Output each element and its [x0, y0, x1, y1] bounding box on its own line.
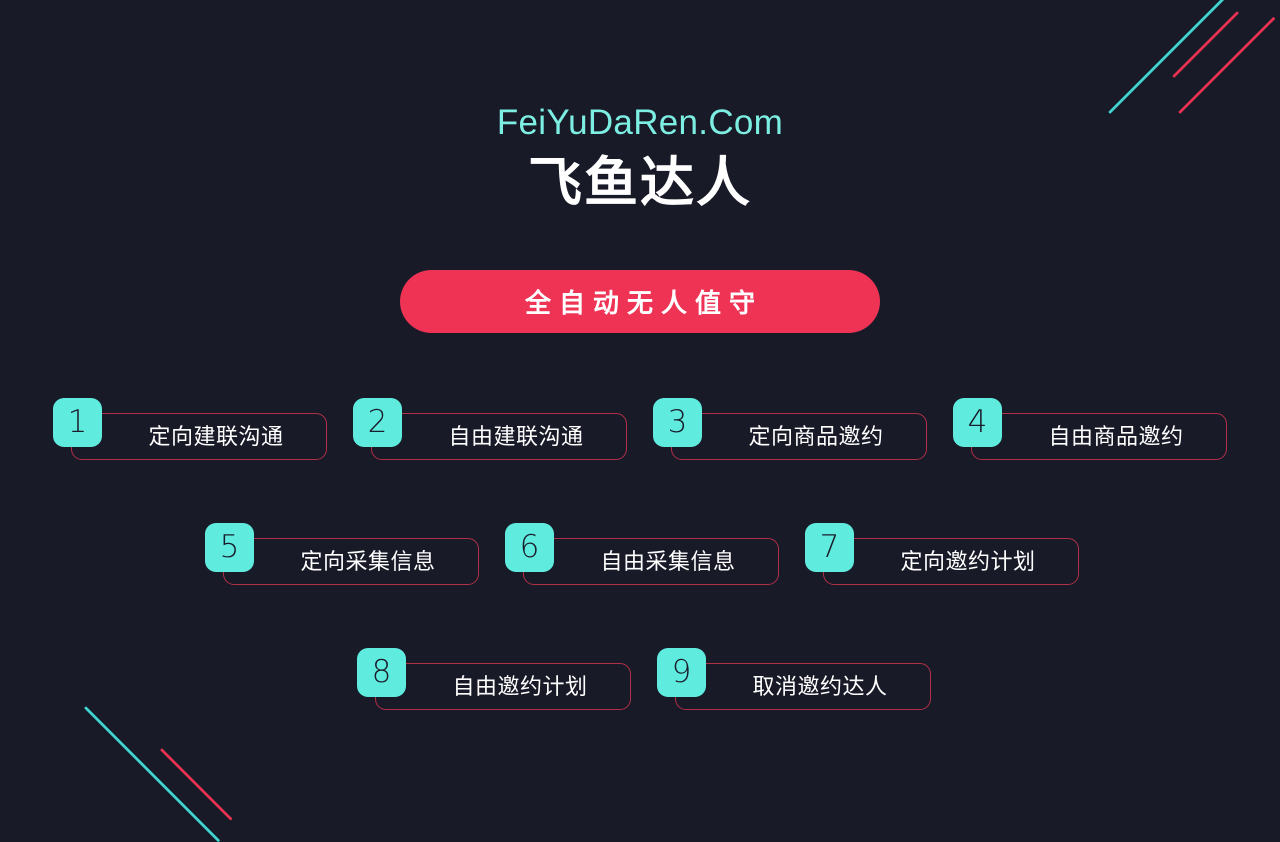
feature-outline-3: 定向商品邀约 — [671, 413, 927, 460]
feature-badge-4: 4 — [953, 398, 1002, 447]
deco-diagonal-bottom-left-cyan-long — [84, 706, 220, 842]
feature-label-2: 自由建联沟通 — [448, 426, 583, 448]
feature-label-1: 定向建联沟通 — [148, 426, 283, 448]
feature-item-8[interactable]: 自由邀约计划 8 — [357, 648, 631, 712]
feature-label-8: 自由邀约计划 — [452, 676, 587, 698]
feature-number-6: 6 — [520, 532, 540, 563]
feature-list: 定向建联沟通 1 自由建联沟通 2 定向商品邀约 3 自由商品邀约 — [0, 398, 1280, 712]
feature-outline-4: 自由商品邀约 — [971, 413, 1227, 460]
feature-badge-7: 7 — [805, 523, 854, 572]
feature-number-1: 1 — [68, 407, 88, 438]
feature-badge-1: 1 — [53, 398, 102, 447]
feature-row-3: 自由邀约计划 8 取消邀约达人 9 — [0, 648, 1280, 712]
feature-badge-5: 5 — [205, 523, 254, 572]
deco-diagonal-bottom-left-red-short — [160, 748, 233, 821]
feature-badge-8: 8 — [357, 648, 406, 697]
feature-number-8: 8 — [372, 657, 392, 688]
feature-label-9: 取消邀约达人 — [752, 676, 887, 698]
feature-item-6[interactable]: 自由采集信息 6 — [505, 523, 779, 587]
page-header: FeiYuDaRen.Com 飞鱼达人 — [0, 0, 1280, 215]
feature-badge-9: 9 — [657, 648, 706, 697]
feature-label-7: 定向邀约计划 — [900, 551, 1035, 573]
feature-badge-3: 3 — [653, 398, 702, 447]
feature-number-3: 3 — [668, 407, 688, 438]
feature-outline-6: 自由采集信息 — [523, 538, 779, 585]
feature-row-2: 定向采集信息 5 自由采集信息 6 定向邀约计划 7 — [0, 523, 1280, 587]
feature-number-5: 5 — [220, 532, 240, 563]
feature-outline-2: 自由建联沟通 — [371, 413, 627, 460]
feature-item-4[interactable]: 自由商品邀约 4 — [953, 398, 1227, 462]
feature-item-7[interactable]: 定向邀约计划 7 — [805, 523, 1079, 587]
feature-badge-6: 6 — [505, 523, 554, 572]
feature-number-9: 9 — [672, 657, 692, 688]
feature-row-1: 定向建联沟通 1 自由建联沟通 2 定向商品邀约 3 自由商品邀约 — [0, 398, 1280, 462]
feature-outline-7: 定向邀约计划 — [823, 538, 1079, 585]
brand-latin-title: FeiYuDaRen.Com — [0, 101, 1280, 145]
feature-label-6: 自由采集信息 — [600, 551, 735, 573]
feature-item-5[interactable]: 定向采集信息 5 — [205, 523, 479, 587]
feature-number-4: 4 — [968, 407, 988, 438]
feature-label-3: 定向商品邀约 — [748, 426, 883, 448]
feature-label-4: 自由商品邀约 — [1048, 426, 1183, 448]
feature-item-9[interactable]: 取消邀约达人 9 — [657, 648, 931, 712]
feature-outline-1: 定向建联沟通 — [71, 413, 327, 460]
feature-outline-5: 定向采集信息 — [223, 538, 479, 585]
feature-number-2: 2 — [368, 407, 388, 438]
feature-item-2[interactable]: 自由建联沟通 2 — [353, 398, 627, 462]
feature-badge-2: 2 — [353, 398, 402, 447]
feature-outline-9: 取消邀约达人 — [675, 663, 931, 710]
feature-label-5: 定向采集信息 — [300, 551, 435, 573]
hero-button-container: 全自动无人值守 — [0, 270, 1280, 333]
feature-item-3[interactable]: 定向商品邀约 3 — [653, 398, 927, 462]
feature-outline-8: 自由邀约计划 — [375, 663, 631, 710]
brand-chinese-title: 飞鱼达人 — [0, 151, 1280, 215]
fully-automatic-unattended-button[interactable]: 全自动无人值守 — [400, 270, 880, 333]
feature-item-1[interactable]: 定向建联沟通 1 — [53, 398, 327, 462]
feature-number-7: 7 — [820, 532, 840, 563]
